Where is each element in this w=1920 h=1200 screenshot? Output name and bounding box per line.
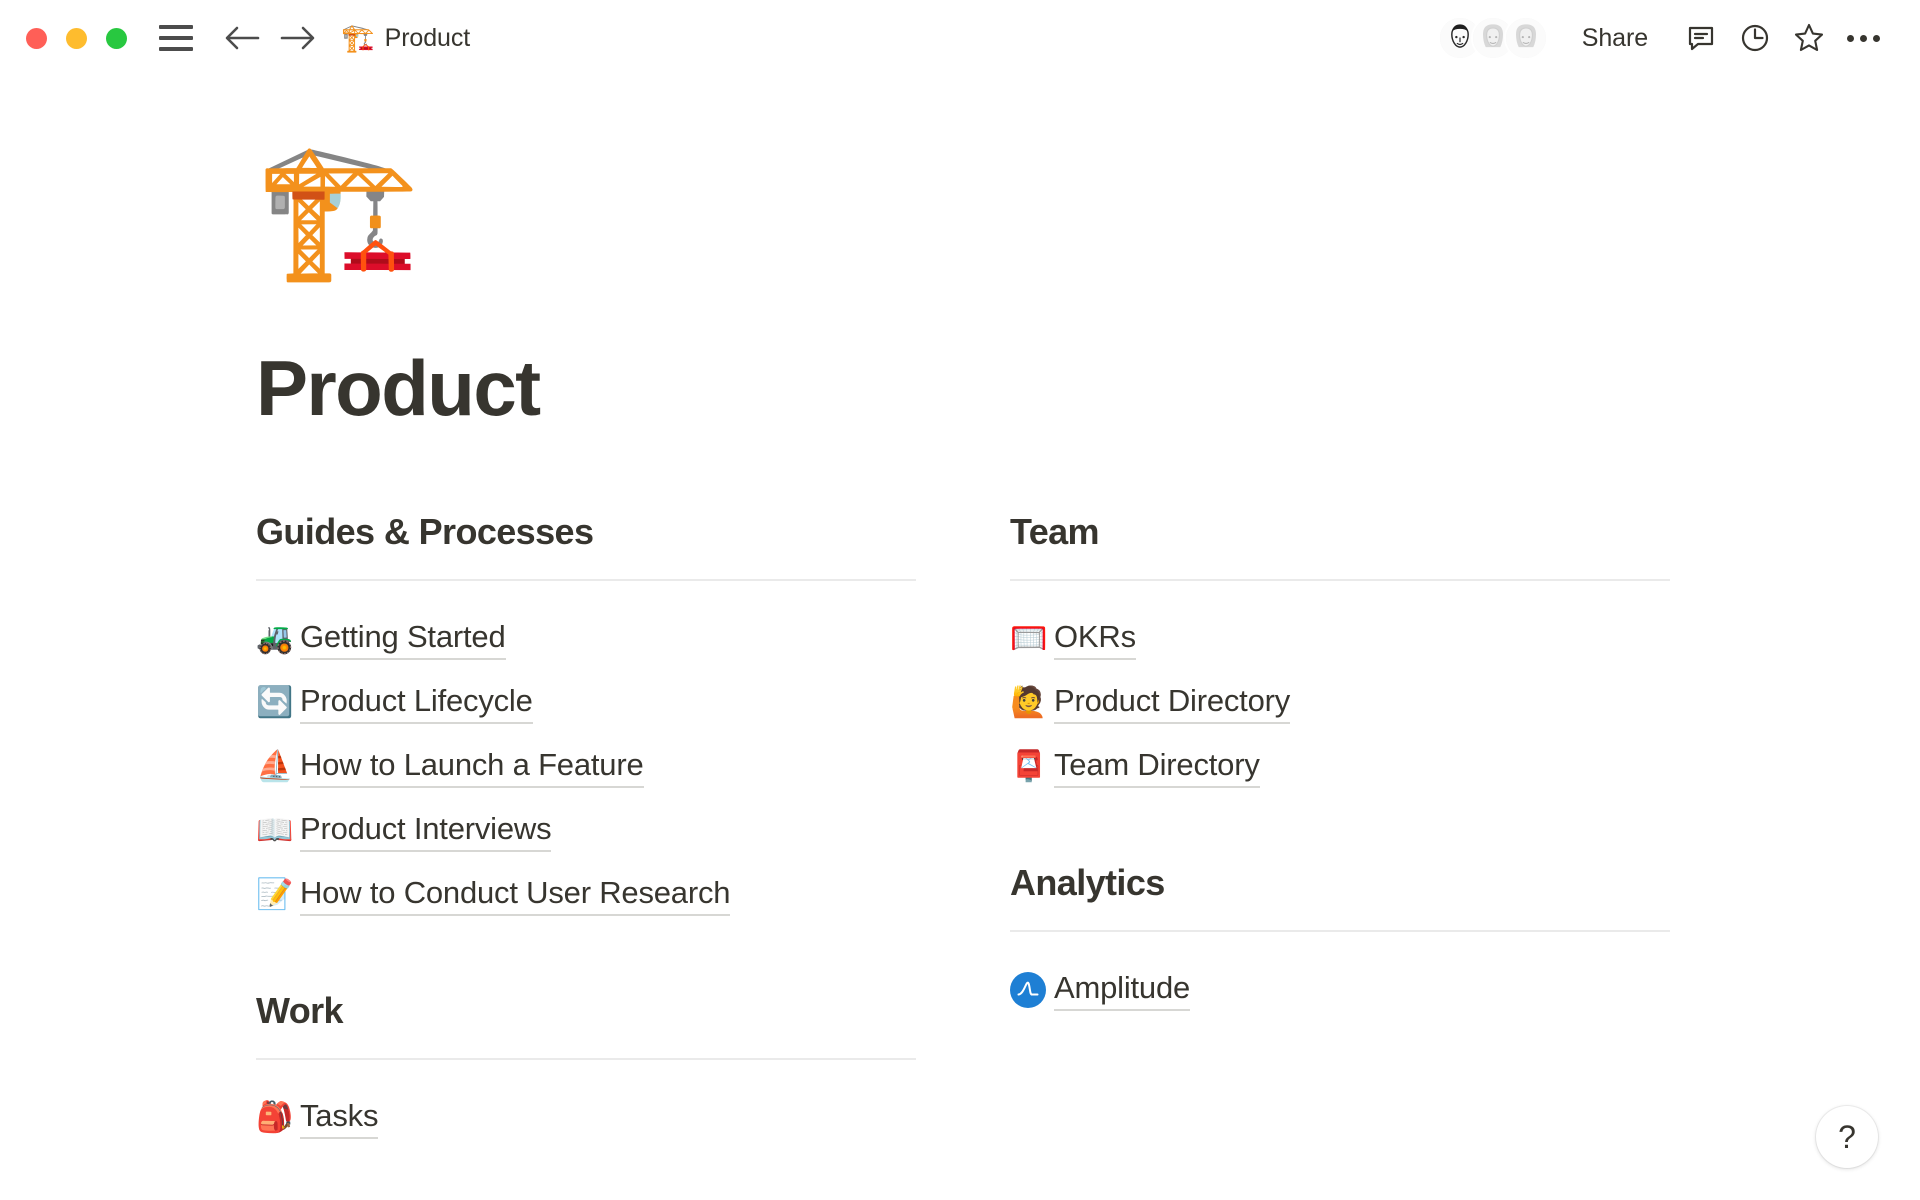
navigation-arrows bbox=[221, 17, 319, 59]
link-label: Product Interviews bbox=[300, 810, 551, 852]
link-item-how-to-launch-a-feature[interactable]: ⛵ How to Launch a Feature bbox=[256, 735, 916, 799]
link-label: Product Directory bbox=[1054, 682, 1290, 724]
link-item-okrs[interactable]: 🥅 OKRs bbox=[1010, 607, 1670, 671]
arrow-right-icon[interactable] bbox=[277, 17, 319, 59]
crane-icon: 🏗️ bbox=[341, 25, 375, 52]
star-icon[interactable] bbox=[1782, 11, 1836, 65]
minimize-window-button[interactable] bbox=[66, 28, 87, 49]
link-label: Team Directory bbox=[1054, 746, 1260, 788]
recycle-arrows-icon: 🔄 bbox=[256, 688, 300, 718]
raising-hand-icon: 🙋 bbox=[1010, 688, 1054, 718]
link-item-amplitude[interactable]: Amplitude bbox=[1010, 958, 1670, 1022]
link-item-how-to-conduct-user-research[interactable]: 📝 How to Conduct User Research bbox=[256, 863, 916, 927]
link-item-tasks[interactable]: 🎒 Tasks bbox=[256, 1086, 916, 1150]
open-book-icon: 📖 bbox=[256, 816, 300, 846]
close-window-button[interactable] bbox=[26, 28, 47, 49]
page-icon-crane-icon[interactable]: 🏗️ bbox=[256, 144, 1676, 294]
arrow-left-icon[interactable] bbox=[221, 17, 263, 59]
section-divider bbox=[256, 1058, 916, 1060]
breadcrumb[interactable]: 🏗️ Product bbox=[341, 24, 470, 53]
link-label: Amplitude bbox=[1054, 969, 1190, 1011]
section-work: Work 🎒 Tasks bbox=[256, 989, 916, 1150]
hamburger-bar bbox=[159, 25, 193, 29]
share-button[interactable]: Share bbox=[1570, 18, 1660, 59]
comment-icon[interactable] bbox=[1674, 11, 1728, 65]
link-list: 🚜 Getting Started 🔄 Product Lifecycle ⛵ … bbox=[256, 607, 916, 927]
link-label: How to Conduct User Research bbox=[300, 874, 730, 916]
section-divider bbox=[1010, 930, 1670, 932]
link-item-team-directory[interactable]: 📮 Team Directory bbox=[1010, 735, 1670, 799]
page-title: Product bbox=[256, 348, 1676, 430]
section-guides-processes: Guides & Processes 🚜 Getting Started 🔄 P… bbox=[256, 510, 916, 927]
help-button[interactable]: ? bbox=[1816, 1106, 1878, 1168]
avatar[interactable] bbox=[1504, 16, 1548, 60]
hamburger-icon[interactable] bbox=[159, 25, 193, 51]
sailboat-icon: ⛵ bbox=[256, 752, 300, 782]
window-titlebar: 🏗️ Product bbox=[0, 0, 1920, 76]
collaborator-avatars[interactable] bbox=[1438, 16, 1548, 60]
content-columns: Guides & Processes 🚜 Getting Started 🔄 P… bbox=[256, 510, 1676, 1150]
postbox-icon: 📮 bbox=[1010, 752, 1054, 782]
section-team: Team 🥅 OKRs 🙋 Product Directory 📮 bbox=[1010, 510, 1670, 799]
tractor-icon: 🚜 bbox=[256, 624, 300, 654]
link-list: 🎒 Tasks bbox=[256, 1086, 916, 1150]
hamburger-bar bbox=[159, 47, 193, 51]
page-inner: 🏗️ Product Guides & Processes 🚜 Getting … bbox=[256, 76, 1676, 1150]
clock-history-icon[interactable] bbox=[1728, 11, 1782, 65]
titlebar-actions: Share bbox=[1438, 11, 1890, 65]
backpack-icon: 🎒 bbox=[256, 1103, 300, 1133]
section-heading: Team bbox=[1010, 510, 1670, 553]
section-divider bbox=[1010, 579, 1670, 581]
link-item-product-directory[interactable]: 🙋 Product Directory bbox=[1010, 671, 1670, 735]
amplitude-logo-icon bbox=[1010, 972, 1054, 1008]
more-options-icon[interactable] bbox=[1836, 11, 1890, 65]
page-content: 🏗️ Product Guides & Processes 🚜 Getting … bbox=[0, 76, 1920, 1200]
link-list: Amplitude bbox=[1010, 958, 1670, 1022]
memo-icon: 📝 bbox=[256, 880, 300, 910]
link-label: OKRs bbox=[1054, 618, 1136, 660]
hamburger-bar bbox=[159, 36, 193, 40]
goal-net-icon: 🥅 bbox=[1010, 624, 1054, 654]
section-heading: Guides & Processes bbox=[256, 510, 916, 553]
window-controls bbox=[26, 28, 127, 49]
more-options-dots bbox=[1847, 35, 1880, 42]
section-heading: Analytics bbox=[1010, 861, 1670, 904]
maximize-window-button[interactable] bbox=[106, 28, 127, 49]
section-analytics: Analytics Amplitude bbox=[1010, 861, 1670, 1022]
link-item-getting-started[interactable]: 🚜 Getting Started bbox=[256, 607, 916, 671]
link-label: Tasks bbox=[300, 1097, 378, 1139]
link-item-product-lifecycle[interactable]: 🔄 Product Lifecycle bbox=[256, 671, 916, 735]
column-right: Team 🥅 OKRs 🙋 Product Directory 📮 bbox=[1010, 510, 1670, 1150]
link-list: 🥅 OKRs 🙋 Product Directory 📮 Team Direct… bbox=[1010, 607, 1670, 799]
link-label: Product Lifecycle bbox=[300, 682, 533, 724]
section-divider bbox=[256, 579, 916, 581]
link-label: How to Launch a Feature bbox=[300, 746, 644, 788]
breadcrumb-label: Product bbox=[385, 24, 470, 53]
column-left: Guides & Processes 🚜 Getting Started 🔄 P… bbox=[256, 510, 916, 1150]
link-item-product-interviews[interactable]: 📖 Product Interviews bbox=[256, 799, 916, 863]
section-heading: Work bbox=[256, 989, 916, 1032]
link-label: Getting Started bbox=[300, 618, 506, 660]
